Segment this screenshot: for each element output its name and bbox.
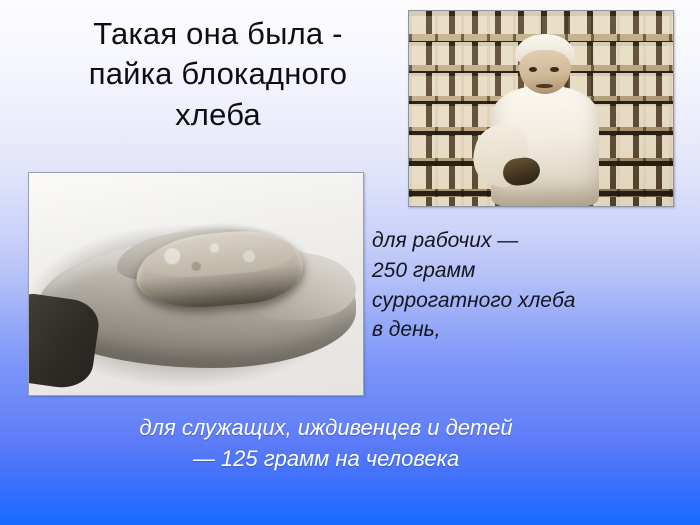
bakery-shelves-backdrop (409, 11, 673, 206)
caption-workers-ration: для рабочих — 250 грамм суррогатного хле… (372, 226, 688, 345)
photo-baker-woman (408, 10, 674, 207)
page-title: Такая она была - пайка блокадного хлеба (18, 14, 418, 135)
baker-woman-figure (491, 34, 599, 206)
caption-dependents-ration: для служащих, иждивенцев и детей — 125 г… (26, 413, 626, 475)
photo-hand-backdrop (29, 173, 363, 395)
slide-canvas: Такая она была - пайка блокадного хлеба (0, 0, 700, 525)
photo-hand-with-bread (28, 172, 364, 396)
mouth-shape (536, 84, 552, 88)
hand-wrist-shape (28, 292, 102, 392)
